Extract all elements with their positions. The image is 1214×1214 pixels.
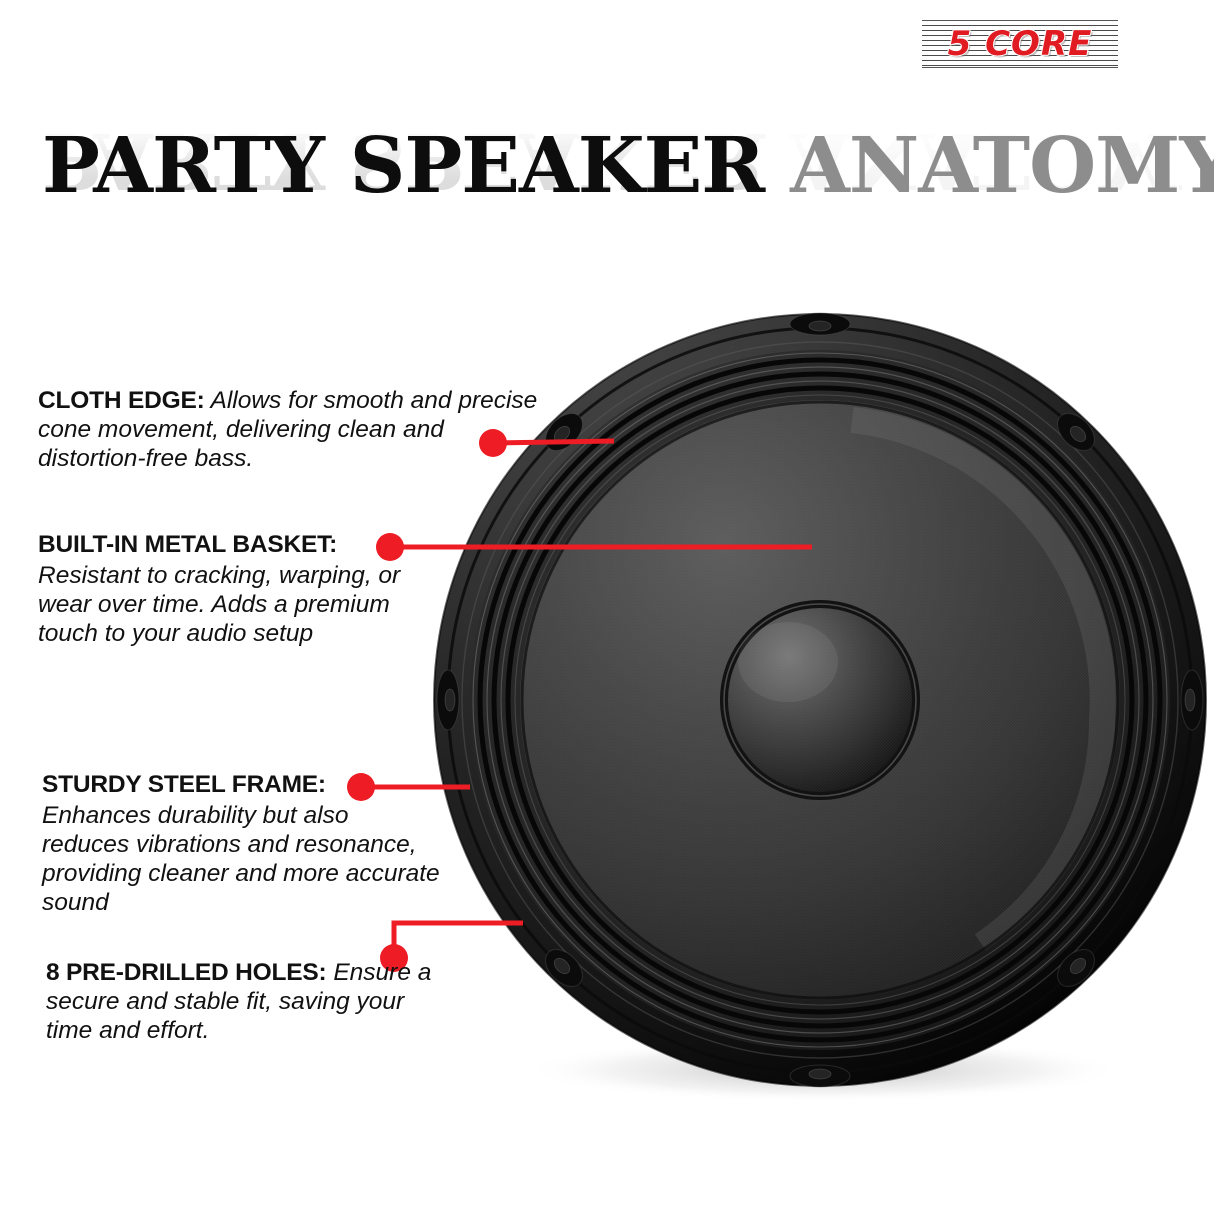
callout-sturdy-steel-frame-body: Enhances durability but also reduces vib… [42, 802, 440, 916]
five-core-logo: 5 CORE [922, 20, 1118, 68]
infographic-page: 5 CORE PARTY SPEAKER ANATOMY PARTY SPEAK… [0, 0, 1214, 1214]
callout-cloth-edge: CLOTH EDGE: Allows for smooth and precis… [38, 386, 558, 473]
callout-built-in-metal-basket-label: BUILT-IN METAL BASKET: [38, 530, 438, 559]
callout-sturdy-steel-frame-label: STURDY STEEL FRAME: [42, 770, 442, 799]
callout-sturdy-steel-frame-text: STURDY STEEL FRAME:Enhances durability b… [42, 770, 442, 917]
page-title-part-b: ANATOMY [790, 121, 1214, 211]
callout-built-in-metal-basket: BUILT-IN METAL BASKET:Resistant to crack… [38, 530, 438, 648]
logo-text: 5 CORE [922, 20, 1118, 68]
page-title-part-a: PARTY SPEAKER [42, 121, 764, 211]
callout-built-in-metal-basket-body: Resistant to cracking, warping, or wear … [38, 562, 400, 647]
callout-cloth-edge-label: CLOTH EDGE: [38, 387, 205, 414]
callout-built-in-metal-basket-text: BUILT-IN METAL BASKET:Resistant to crack… [38, 530, 438, 648]
callout-pre-drilled-holes-label: 8 PRE-DRILLED HOLES: [46, 959, 327, 986]
page-title: PARTY SPEAKER ANATOMY [42, 126, 1182, 244]
callout-pre-drilled-holes-text: 8 PRE-DRILLED HOLES: Ensure a secure and… [46, 958, 446, 1045]
page-title-line: PARTY SPEAKER ANATOMY [42, 126, 1182, 206]
speaker-dust-cap [720, 600, 920, 800]
callout-sturdy-steel-frame: STURDY STEEL FRAME:Enhances durability b… [42, 770, 442, 917]
callout-cloth-edge-text: CLOTH EDGE: Allows for smooth and precis… [38, 386, 558, 473]
callout-pre-drilled-holes: 8 PRE-DRILLED HOLES: Ensure a secure and… [46, 958, 446, 1045]
